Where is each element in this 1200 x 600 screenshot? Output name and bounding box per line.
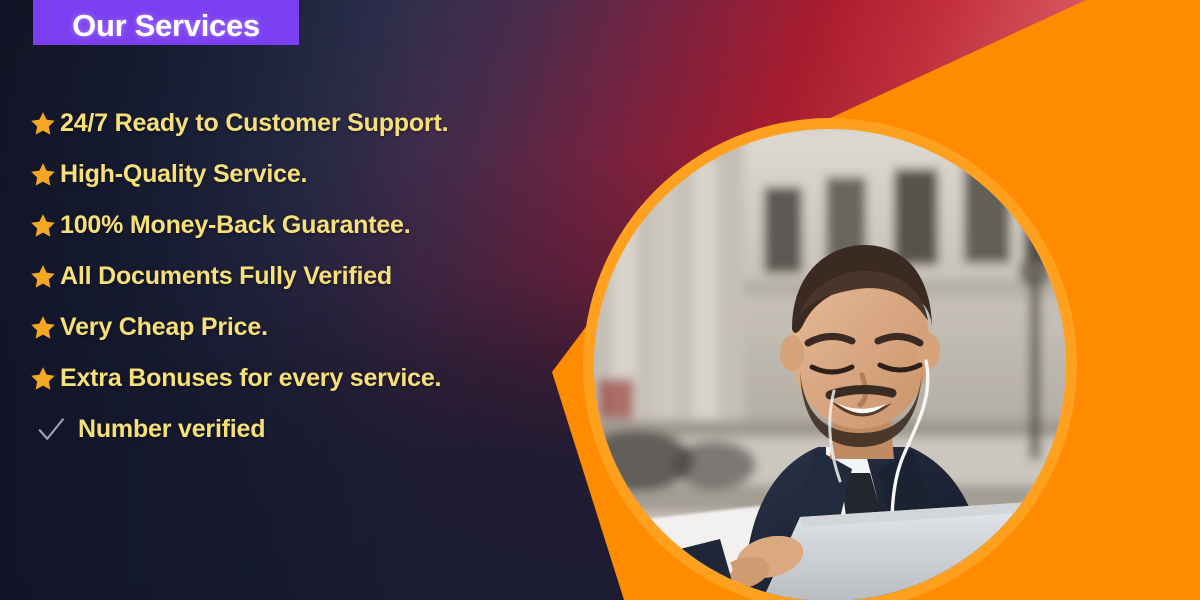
feature-label: High-Quality Service. [60,162,307,187]
feature-item: Very Cheap Price. [26,302,606,353]
feature-label: 100% Money-Back Guarantee. [60,213,411,238]
feature-label: Number verified [78,417,265,442]
feature-label: Extra Bonuses for every service. [60,366,441,391]
feature-item: 100% Money-Back Guarantee. [26,200,606,251]
feature-item: 24/7 Ready to Customer Support. [26,98,606,149]
check-icon [34,415,68,445]
star-icon [26,263,60,291]
feature-label: 24/7 Ready to Customer Support. [60,111,448,136]
star-icon [26,212,60,240]
feature-label: All Documents Fully Verified [60,264,392,289]
star-icon [26,161,60,189]
star-icon [26,110,60,138]
our-services-badge-label: Our Services [72,10,260,41]
feature-item: All Documents Fully Verified [26,251,606,302]
feature-list: 24/7 Ready to Customer Support. High-Qua… [26,98,606,455]
feature-item: Number verified [26,404,606,455]
profile-photo [594,129,1066,600]
profile-photo-ring [583,118,1077,600]
our-services-badge: Our Services [33,0,299,45]
services-banner: Our Services 24/7 Ready to Customer Supp… [0,0,1200,600]
star-icon [26,365,60,393]
star-icon [26,314,60,342]
feature-item: Extra Bonuses for every service. [26,353,606,404]
feature-label: Very Cheap Price. [60,315,268,340]
feature-item: High-Quality Service. [26,149,606,200]
